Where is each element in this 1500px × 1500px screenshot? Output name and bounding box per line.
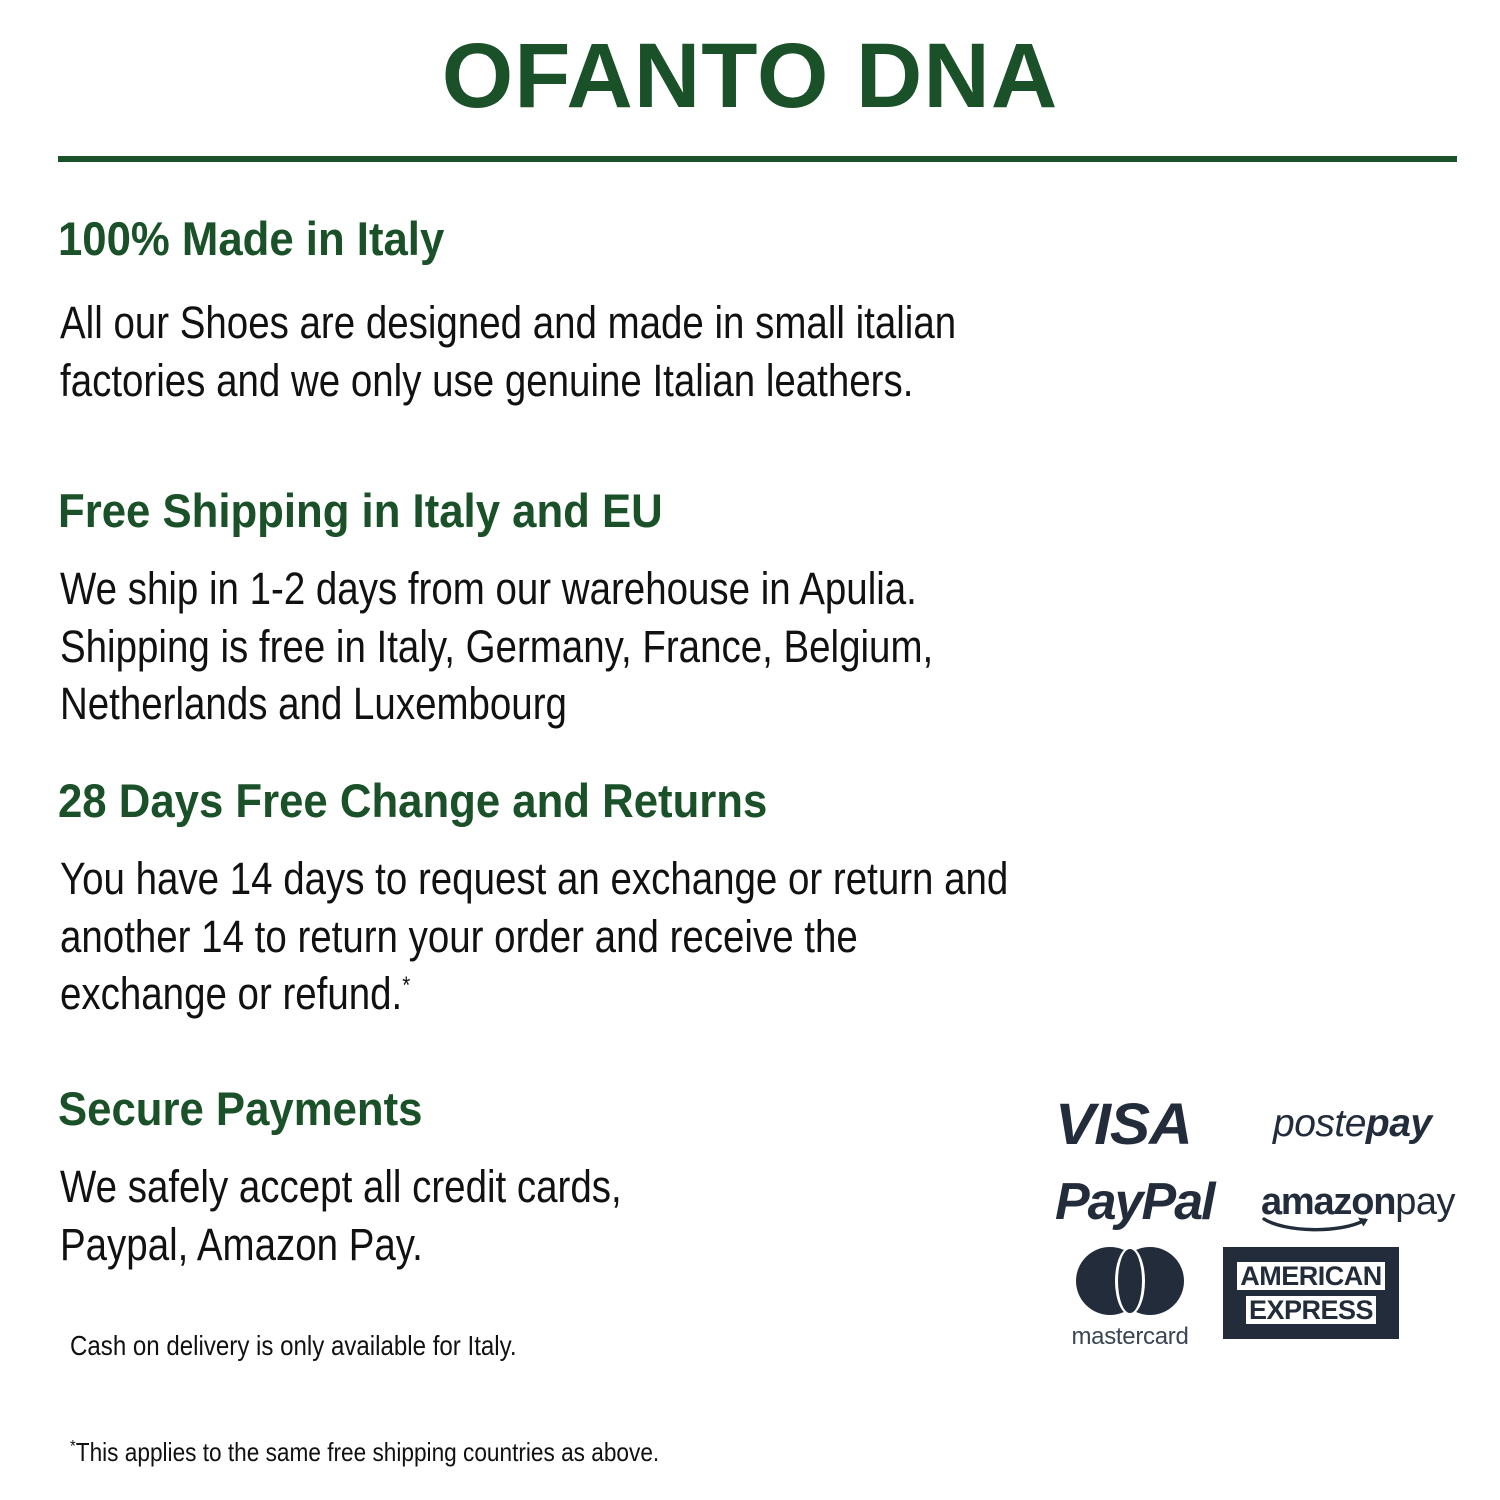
amazon-smile-icon — [1262, 1216, 1378, 1234]
section-body-secure-payments: We safely accept all credit cards, Paypa… — [60, 1158, 622, 1273]
page-footnote: *This applies to the same free shipping … — [70, 1436, 659, 1470]
footnote-text: This applies to the same free shipping c… — [76, 1437, 659, 1467]
section-body-returns-text: You have 14 days to request an exchange … — [60, 853, 1008, 1019]
mastercard-overlap-lens — [1118, 1249, 1142, 1313]
visa-logo: VISA — [1055, 1091, 1242, 1158]
paypal-logo: PayPal — [1055, 1172, 1231, 1232]
mastercard-circles-icon — [1076, 1247, 1184, 1315]
postepay-logo-bold: pay — [1366, 1102, 1432, 1145]
returns-footnote-marker: * — [402, 972, 410, 999]
section-heading-returns: 28 Days Free Change and Returns — [58, 776, 767, 825]
section-body-returns: You have 14 days to request an exchange … — [60, 850, 1008, 1023]
cash-on-delivery-note: Cash on delivery is only available for I… — [70, 1328, 517, 1364]
mastercard-logo: mastercard — [1055, 1247, 1205, 1351]
payment-logo-row-1: VISA postepay — [1055, 1085, 1455, 1163]
section-heading-made-in-italy: 100% Made in Italy — [58, 214, 444, 263]
page-title: OFANTO DNA — [0, 0, 1500, 122]
payment-logo-row-3: mastercard AMERICAN EXPRESS — [1055, 1247, 1455, 1357]
amazon-pay-logo-pay: pay — [1395, 1181, 1455, 1223]
american-express-logo-line2: EXPRESS — [1246, 1296, 1376, 1324]
mastercard-logo-label: mastercard — [1071, 1323, 1188, 1351]
payment-logos: VISA postepay PayPal amazonpay mastercar… — [1055, 1085, 1455, 1357]
american-express-logo: AMERICAN EXPRESS — [1223, 1247, 1399, 1339]
section-body-free-shipping: We ship in 1-2 days from our warehouse i… — [60, 560, 933, 733]
section-heading-free-shipping: Free Shipping in Italy and EU — [58, 486, 663, 535]
postepay-logo-light: poste — [1273, 1102, 1366, 1145]
payment-logo-row-2: PayPal amazonpay — [1055, 1163, 1455, 1241]
section-body-made-in-italy: All our Shoes are designed and made in s… — [60, 294, 956, 409]
amazon-pay-logo: amazonpay — [1261, 1183, 1455, 1221]
postepay-logo: postepay — [1273, 1102, 1432, 1146]
section-heading-secure-payments: Secure Payments — [58, 1084, 422, 1133]
american-express-logo-line1: AMERICAN — [1237, 1262, 1385, 1290]
header-divider — [58, 156, 1457, 162]
